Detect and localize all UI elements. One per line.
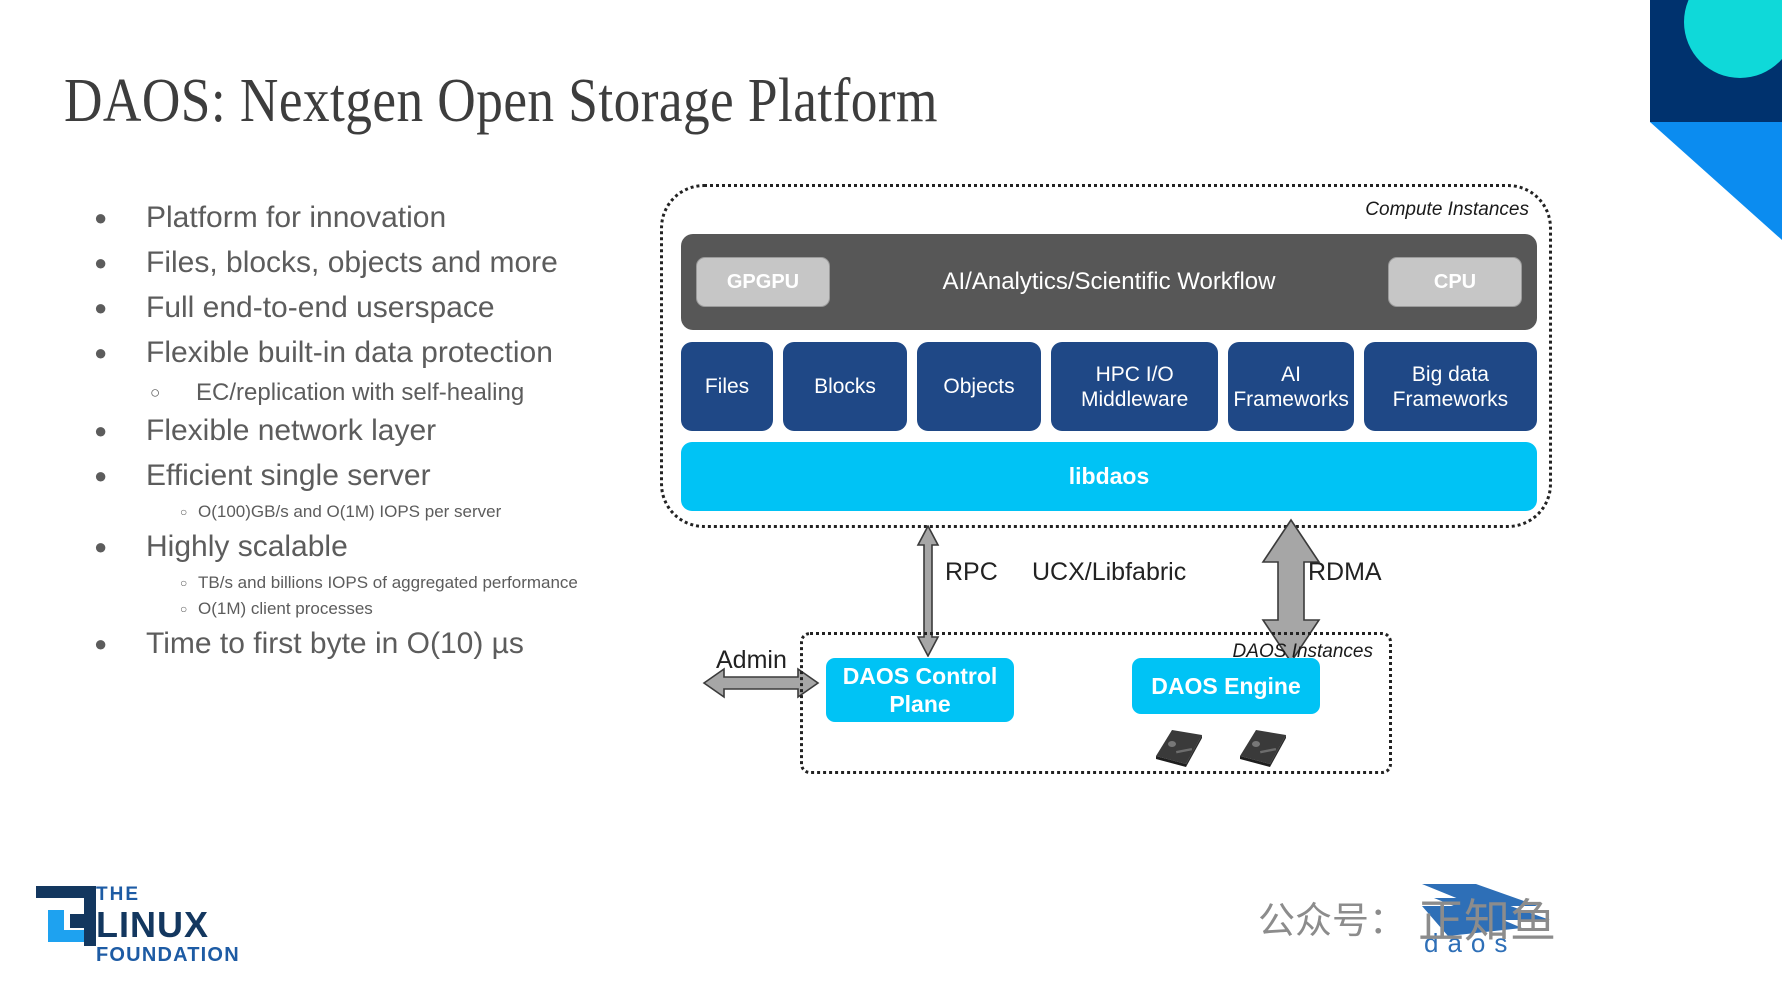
wechat-account-label: 公众号： (1258, 890, 1406, 944)
bullet-marker-icon: ○ (84, 376, 150, 409)
workflow-bar: AI/Analytics/Scientific Workflow GPGPU C… (681, 234, 1537, 330)
bullet-item: ○O(1M) client processes (84, 596, 684, 622)
bullet-text: Platform for innovation (146, 196, 446, 240)
middleware-cell: Files (681, 342, 773, 431)
bullet-marker-icon: ● (84, 409, 146, 453)
bullet-marker-icon: ○ (84, 499, 198, 525)
lf-linux-label: LINUX (96, 906, 240, 944)
bullet-marker-icon: ● (84, 286, 146, 330)
bullet-marker-icon: ● (84, 622, 146, 666)
middleware-cell: Big data Frameworks (1364, 342, 1537, 431)
admin-label: Admin (716, 646, 787, 675)
bullet-item: ●Platform for innovation (84, 196, 684, 240)
bullet-item: ○O(100)GB/s and O(1M) IOPS per server (84, 499, 684, 525)
bullet-marker-icon: ● (84, 525, 146, 569)
middleware-cell: Blocks (783, 342, 907, 431)
feature-bullet-list: ●Platform for innovation●Files, blocks, … (84, 196, 684, 667)
bullet-text: Files, blocks, objects and more (146, 241, 558, 285)
bullet-marker-icon: ● (84, 241, 146, 285)
bullet-item: ●Highly scalable (84, 525, 684, 569)
bullet-marker-icon: ● (84, 331, 146, 375)
lf-the-label: THE (96, 884, 240, 906)
bullet-text: Time to first byte in O(10) µs (146, 622, 524, 666)
bullet-item: ●Time to first byte in O(10) µs (84, 622, 684, 666)
page-title: DAOS: Nextgen Open Storage Platform (64, 66, 938, 137)
bullet-text: TB/s and billions IOPS of aggregated per… (198, 570, 598, 596)
linux-foundation-wordmark: THE LINUX FOUNDATION (96, 884, 240, 967)
rpc-label: RPC (945, 558, 998, 587)
bullet-text: O(100)GB/s and O(1M) IOPS per server (198, 499, 598, 525)
middleware-cell: Objects (917, 342, 1041, 431)
bullet-text: Full end-to-end userspace (146, 286, 495, 330)
bullet-item: ●Files, blocks, objects and more (84, 241, 684, 285)
middleware-cell: HPC I/O Middleware (1051, 342, 1218, 431)
bullet-item: ●Efficient single server (84, 454, 684, 498)
architecture-diagram: Compute Instances AI/Analytics/Scientifi… (660, 180, 1782, 820)
bullet-marker-icon: ● (84, 196, 146, 240)
bullet-text: EC/replication with self-healing (150, 376, 524, 409)
bullet-marker-icon: ○ (84, 570, 198, 596)
daos-control-plane-block: DAOS Control Plane (826, 658, 1014, 722)
bullet-text: Efficient single server (146, 454, 431, 498)
compute-instances-caption: Compute Instances (1365, 199, 1529, 221)
bullet-text: O(1M) client processes (198, 596, 598, 622)
daos-engine-block: DAOS Engine (1132, 658, 1320, 714)
middleware-row: FilesBlocksObjectsHPC I/O MiddlewareAI F… (681, 342, 1537, 431)
transport-label: UCX/Libfabric (1032, 558, 1186, 587)
bullet-item: ○EC/replication with self-healing (84, 376, 684, 409)
watermark-name: 正知鱼 (1418, 885, 1556, 951)
middleware-cell: AI Frameworks (1228, 342, 1354, 431)
bullet-marker-icon: ○ (84, 596, 198, 622)
rdma-label: RDMA (1308, 558, 1382, 587)
compute-instances-group: Compute Instances AI/Analytics/Scientifi… (660, 184, 1552, 528)
bullet-marker-icon: ● (84, 454, 146, 498)
bullet-text: Highly scalable (146, 525, 348, 569)
bullet-text: Flexible network layer (146, 409, 436, 453)
cpu-chip: CPU (1388, 257, 1522, 307)
bullet-item: ●Flexible network layer (84, 409, 684, 453)
ssd-device-icon (1150, 726, 1206, 768)
bullet-item: ●Full end-to-end userspace (84, 286, 684, 330)
libdaos-bar: libdaos (681, 442, 1537, 511)
bullet-text: Flexible built-in data protection (146, 331, 553, 375)
bullet-item: ●Flexible built-in data protection (84, 331, 684, 375)
bullet-item: ○TB/s and billions IOPS of aggregated pe… (84, 570, 684, 596)
ssd-device-icon (1234, 726, 1290, 768)
lf-foundation-label: FOUNDATION (96, 944, 240, 967)
gpgpu-chip: GPGPU (696, 257, 830, 307)
